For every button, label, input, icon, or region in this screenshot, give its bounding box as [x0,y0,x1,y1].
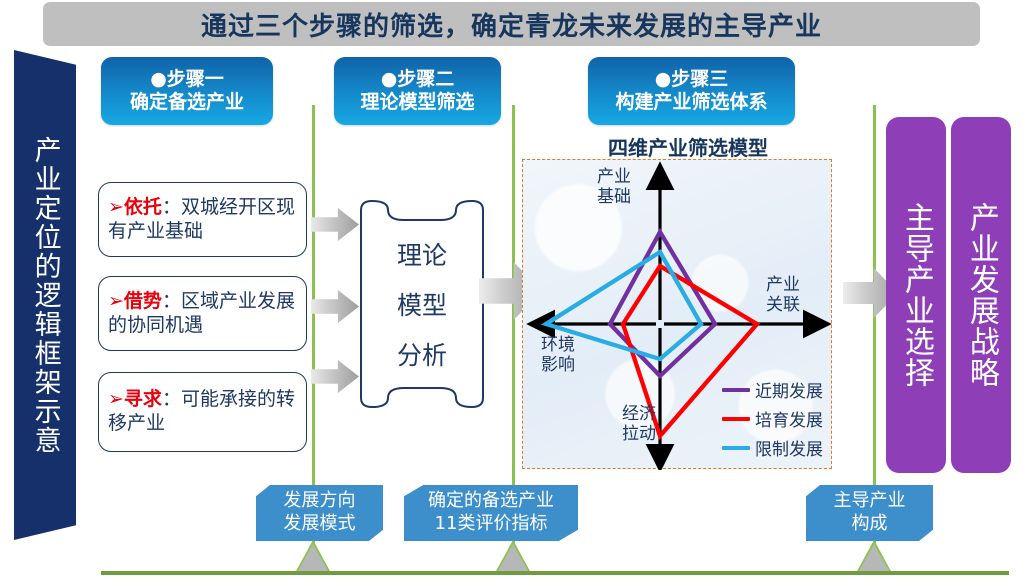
bullet-1-text: ➢依托：双城经开区现有产业基础 [108,196,296,244]
output-box-2-line2: 11类评价指标 [435,513,548,536]
arrow-bullet2-to-model [311,290,359,323]
legend-item-cultivate: 培育发展 [722,406,823,431]
axis-label-industry-base-l2: 基础 [578,188,650,208]
legend-item-restrict: 限制发展 [722,435,823,460]
bullet-3-marker-icon: ➢ [108,388,124,410]
legend-swatch-near-term [722,388,750,392]
slide-canvas: 通过三个步骤的筛选，确定青龙未来发展的主导产业 产业定位的逻辑框架示意 ●步骤一… [0,0,1023,587]
triangle-2-fill [498,544,528,571]
arrow-bullet3-to-model [311,360,359,393]
step-2-line1: ●步骤二 [381,68,455,91]
triangle-marker-3 [856,540,892,573]
bullet-3-keyword: 寻求 [124,388,162,410]
bullet-1-keyword: 依托 [124,196,162,218]
step-1-line1: ●步骤一 [150,68,224,91]
step-1-line2: 确定备选产业 [130,91,244,114]
radar-legend: 近期发展 培育发展 限制发展 [722,377,823,460]
bullet-1-colon: ： [162,196,181,218]
outcome-box-development-strategy[interactable]: 产业发展战略 [951,117,1011,473]
output-box-3[interactable]: 主导产业 构成 [806,485,933,541]
slide-title-bar: 通过三个步骤的筛选，确定青龙未来发展的主导产业 [43,2,980,46]
outcome-box-development-strategy-label: 产业发展战略 [965,202,997,388]
axis-label-industry-link: 产业 关联 [748,276,818,315]
divider-line-2 [512,105,515,543]
bullet-box-2[interactable]: ➢借势：区域产业发展的协同机遇 [98,276,307,351]
step-header-3[interactable]: ●步骤三 构建产业筛选体系 [588,57,795,125]
model-box-line1: 理论 [397,236,447,272]
model-box-labels: 理论 模型 分析 [358,198,486,410]
axis-label-industry-base: 产业 基础 [578,168,650,207]
step-3-line1: ●步骤三 [655,68,729,91]
output-box-1-line2: 发展模式 [284,513,356,536]
legend-label-cultivate: 培育发展 [755,406,823,431]
axis-label-economic-pull: 经济 拉动 [605,405,673,444]
outcome-box-leading-industry[interactable]: 主导产业选择 [886,117,946,473]
triangle-marker-1 [295,540,331,573]
left-banner-label: 产业定位的逻辑框架示意 [14,50,76,540]
divider-line-1 [312,105,315,543]
model-analysis-box[interactable]: 理论 模型 分析 [358,198,486,410]
legend-item-near-term: 近期发展 [722,377,823,402]
bullet-2-colon: ： [162,290,181,312]
legend-swatch-restrict [722,446,750,450]
bullet-2-keyword: 借势 [124,290,162,312]
output-box-2[interactable]: 确定的备选产业 11类评价指标 [404,485,578,541]
axis-label-economic-pull-l2: 拉动 [605,425,673,445]
axis-label-economic-pull-l1: 经济 [605,405,673,425]
axis-label-industry-base-l1: 产业 [578,168,650,188]
bullet-box-3[interactable]: ➢寻求：可能承接的转移产业 [98,372,307,452]
axis-label-environment-impact-l2: 影响 [527,356,589,376]
axis-label-environment-impact-l1: 环境 [527,336,589,356]
output-box-1-line1: 发展方向 [284,490,356,513]
radar-chart-title: 四维产业筛选模型 [552,132,824,161]
triangle-3-fill [859,544,889,571]
outcome-box-leading-industry-label: 主导产业选择 [900,202,932,388]
step-3-line2: 构建产业筛选体系 [615,91,767,114]
triangle-marker-2 [495,540,531,573]
arrow-bullet1-to-model [311,208,359,241]
legend-label-restrict: 限制发展 [755,435,823,460]
axis-label-industry-link-l2: 关联 [748,296,818,316]
triangle-1-fill [298,544,328,571]
divider-line-3 [873,105,876,543]
output-box-3-line2: 构成 [852,513,888,536]
step-2-line2: 理论模型筛选 [360,91,474,114]
bottom-baseline [101,571,1009,575]
output-box-2-line1: 确定的备选产业 [428,490,554,513]
step-header-2[interactable]: ●步骤二 理论模型筛选 [334,57,501,125]
bullet-2-marker-icon: ➢ [108,290,124,312]
model-box-line2: 模型 [397,286,447,322]
output-box-1[interactable]: 发展方向 发展模式 [256,485,383,541]
radar-chart-panel: 产业 基础 产业 关联 经济 拉动 环境 影响 近期发展 培育发展 [522,159,832,469]
bullet-box-1[interactable]: ➢依托：双城经开区现有产业基础 [98,182,307,257]
legend-label-near-term: 近期发展 [755,377,823,402]
legend-swatch-cultivate [722,417,750,421]
bullet-2-text: ➢借势：区域产业发展的协同机遇 [108,290,296,338]
model-box-line3: 分析 [397,336,447,372]
bullet-3-text: ➢寻求：可能承接的转移产业 [108,388,296,436]
bullet-3-colon: ： [162,388,181,410]
left-vertical-banner: 产业定位的逻辑框架示意 [14,50,76,540]
step-header-1[interactable]: ●步骤一 确定备选产业 [101,57,273,125]
bullet-1-marker-icon: ➢ [108,196,124,218]
output-box-3-line1: 主导产业 [834,490,906,513]
axis-label-industry-link-l1: 产业 [748,276,818,296]
axis-label-environment-impact: 环境 影响 [527,336,589,375]
page-title: 通过三个步骤的筛选，确定青龙未来发展的主导产业 [201,6,822,43]
